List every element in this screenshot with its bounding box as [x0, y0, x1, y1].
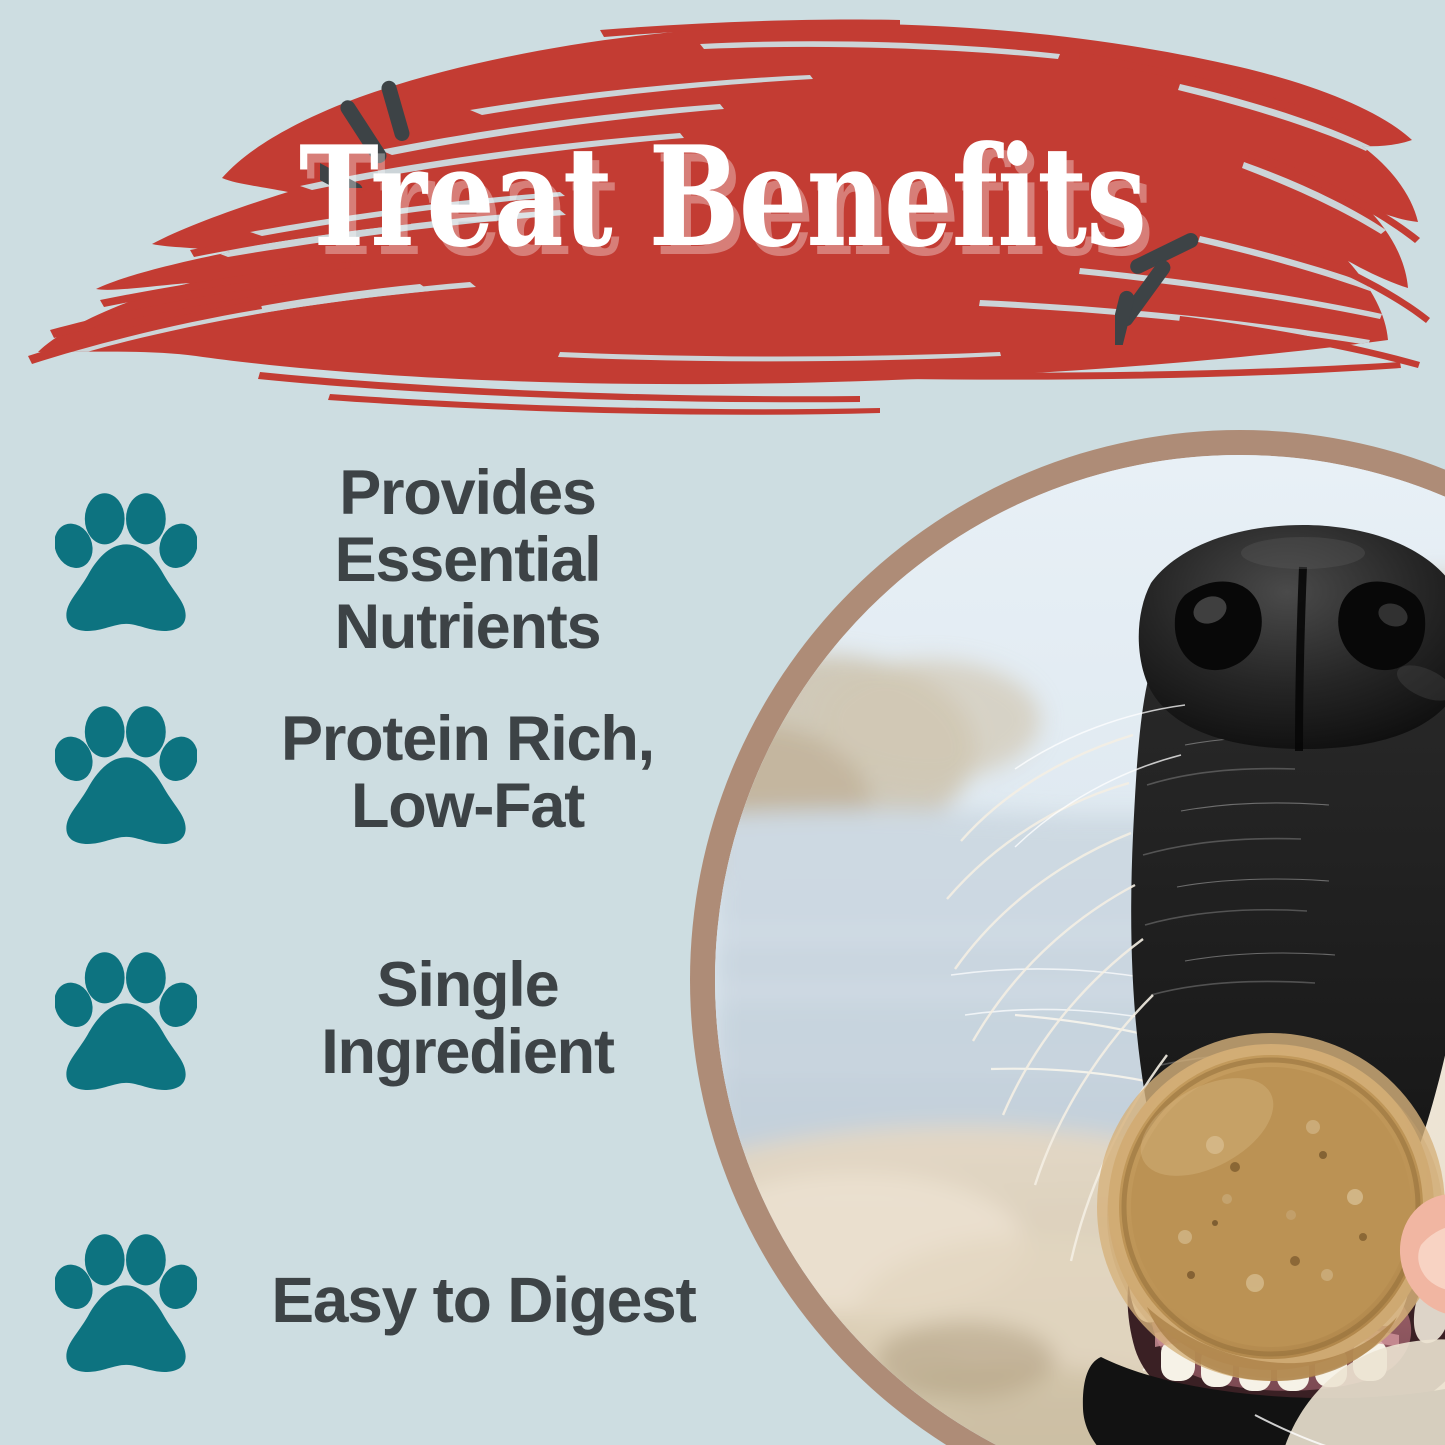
benefit-item-easy-to-digest: Easy to Digest: [0, 1230, 760, 1372]
paw-print-icon: [55, 702, 197, 844]
dog-with-treat-photo: [715, 455, 1445, 1445]
infographic-page: Treat Benefits Provides Essential Nutrie…: [0, 0, 1445, 1445]
benefit-label: Easy to Digest: [197, 1267, 760, 1335]
benefit-item-provides-essential-nutrients: Provides Essential Nutrients: [0, 460, 760, 660]
benefit-label: Protein Rich, Low-Fat: [197, 706, 760, 840]
benefit-item-single-ingredient: Single Ingredient: [0, 948, 760, 1090]
photo-clip: [715, 455, 1445, 1445]
benefit-label: Provides Essential Nutrients: [197, 460, 760, 660]
page-title: Treat Benefits: [159, 128, 1286, 266]
paw-print-icon: [55, 948, 197, 1090]
paw-print-icon: [55, 489, 197, 631]
product-photo-panel: [685, 418, 1445, 1445]
benefit-item-protein-rich-low-fat: Protein Rich, Low-Fat: [0, 702, 760, 844]
header-banner: Treat Benefits: [0, 0, 1445, 420]
paw-print-icon: [55, 1230, 197, 1372]
benefit-label: Single Ingredient: [197, 952, 760, 1086]
benefits-list: Provides Essential Nutrients Protein Ric…: [0, 440, 760, 1445]
